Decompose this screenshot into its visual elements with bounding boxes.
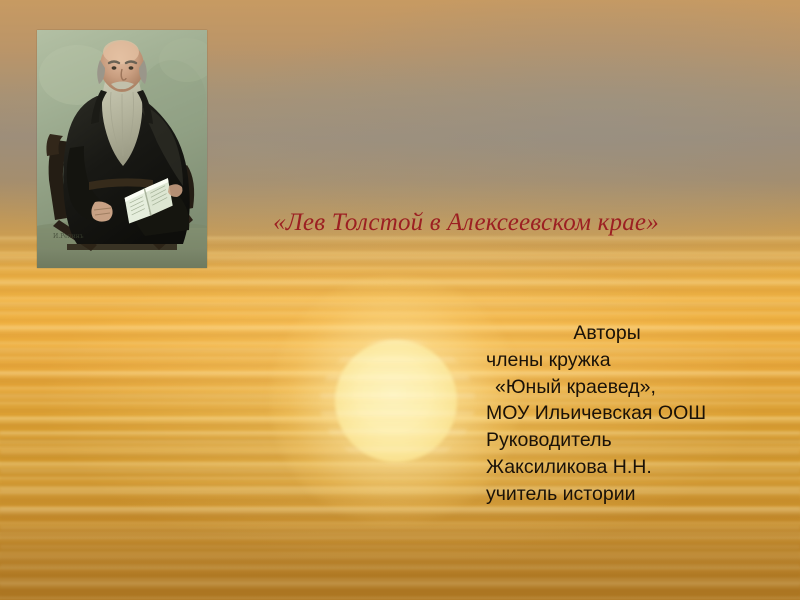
portrait-artwork: И.Репинъ <box>37 30 207 268</box>
leo-tolstoy-portrait: И.Репинъ <box>37 30 207 268</box>
authors-block: Авторы члены кружка «Юный краевед», МОУ … <box>486 320 706 508</box>
page-title: «Лев Толстой в Алексеевском крае» <box>244 208 688 238</box>
authors-line-1: Авторы <box>486 320 706 347</box>
svg-text:И.Репинъ: И.Репинъ <box>53 233 84 240</box>
authors-line-5: Руководитель <box>486 427 706 454</box>
sun-cloud-wisps <box>320 338 475 466</box>
authors-line-6: Жаксиликова Н.Н. <box>486 454 706 481</box>
authors-line-4: МОУ Ильичевская ООШ <box>486 400 706 427</box>
presentation-slide: И.Репинъ «Лев Толстой в Алексеевском кра… <box>0 0 800 600</box>
authors-line-2: члены кружка <box>486 347 706 374</box>
authors-line-7: учитель истории <box>486 481 706 508</box>
authors-line-3: «Юный краевед», <box>486 374 706 401</box>
